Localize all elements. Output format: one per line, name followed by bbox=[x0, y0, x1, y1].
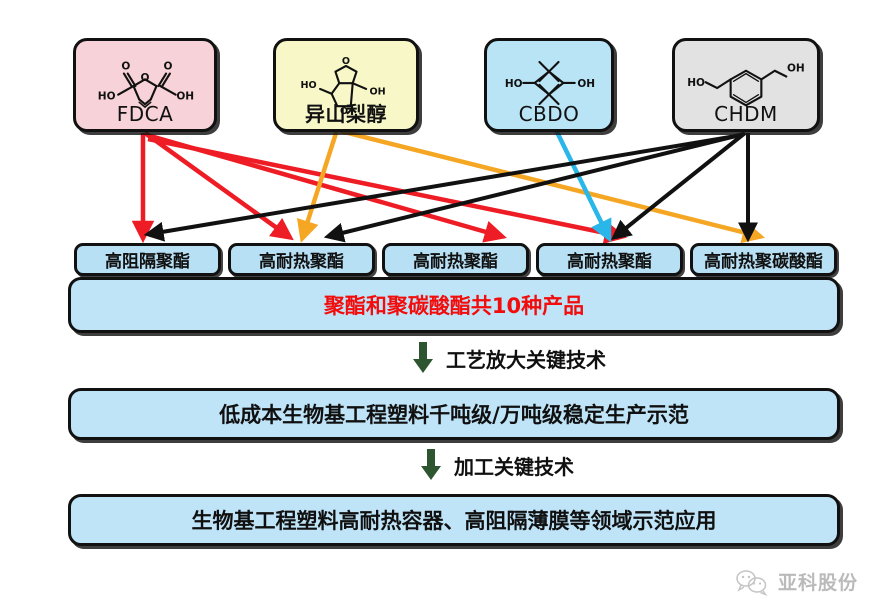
source-box-chdm[interactable]: HO OH CHDM bbox=[672, 38, 820, 132]
svg-text:O: O bbox=[141, 72, 150, 84]
product-chip-label: 高耐热聚碳酸酯 bbox=[704, 247, 823, 272]
svg-text:OH: OH bbox=[577, 78, 595, 90]
svg-text:HO: HO bbox=[301, 80, 317, 91]
product-chip-label: 高阻隔聚酯 bbox=[105, 247, 190, 272]
svg-text:O: O bbox=[342, 56, 350, 67]
product-chip-label: 高耐热聚酯 bbox=[259, 247, 344, 272]
product-chip-4[interactable]: 高耐热聚碳酸酯 bbox=[690, 243, 837, 276]
down-arrow-icon bbox=[420, 449, 442, 481]
source-label-chdm: CHDM bbox=[675, 104, 817, 129]
summary-banner-text: 聚酯和聚碳酸酯共10种产品 bbox=[324, 290, 584, 320]
wechat-icon bbox=[735, 569, 769, 595]
product-chip-1[interactable]: 高耐热聚酯 bbox=[228, 243, 375, 276]
process-banner-text: 生物基工程塑料高耐热容器、高阻隔薄膜等领域示范应用 bbox=[192, 505, 717, 535]
svg-text:OH: OH bbox=[176, 90, 194, 102]
diagram-canvas: O O O HO OH FDCA O O HO OH 异山梨醇 bbox=[0, 0, 895, 612]
product-chip-2[interactable]: 高耐热聚酯 bbox=[382, 243, 529, 276]
down-arrow-icon bbox=[412, 342, 434, 374]
source-box-isosorbide[interactable]: O O HO OH 异山梨醇 bbox=[273, 38, 419, 132]
svg-text:OH: OH bbox=[787, 63, 805, 75]
svg-text:O: O bbox=[164, 61, 173, 73]
product-chip-3[interactable]: 高耐热聚酯 bbox=[536, 243, 683, 276]
svg-text:HO: HO bbox=[98, 90, 116, 102]
product-chip-label: 高耐热聚酯 bbox=[413, 247, 498, 272]
step-row-0: 工艺放大关键技术 bbox=[412, 342, 606, 374]
process-banner-0[interactable]: 低成本生物基工程塑料千吨级/万吨级稳定生产示范 bbox=[68, 388, 840, 440]
step-row-1: 加工关键技术 bbox=[420, 449, 574, 481]
product-chip-0[interactable]: 高阻隔聚酯 bbox=[74, 243, 221, 276]
svg-text:HO: HO bbox=[687, 77, 705, 89]
watermark-text: 亚科股份 bbox=[778, 568, 858, 595]
svg-text:O: O bbox=[121, 61, 130, 73]
watermark: 亚科股份 bbox=[735, 568, 858, 595]
process-banner-text: 低成本生物基工程塑料千吨级/万吨级稳定生产示范 bbox=[219, 399, 689, 429]
svg-text:HO: HO bbox=[505, 78, 523, 90]
process-banner-1[interactable]: 生物基工程塑料高耐热容器、高阻隔薄膜等领域示范应用 bbox=[68, 494, 840, 546]
source-label-isosorbide: 异山梨醇 bbox=[276, 104, 416, 129]
summary-banner[interactable]: 聚酯和聚碳酸酯共10种产品 bbox=[68, 277, 840, 333]
step-caption-1: 加工关键技术 bbox=[454, 451, 574, 480]
product-chip-label: 高耐热聚酯 bbox=[567, 247, 652, 272]
source-box-fdca[interactable]: O O O HO OH FDCA bbox=[73, 38, 217, 132]
source-box-cbdo[interactable]: HO OH CBDO bbox=[484, 38, 614, 132]
svg-text:OH: OH bbox=[370, 87, 386, 98]
source-label-cbdo: CBDO bbox=[487, 104, 611, 129]
arrows-from-cbdo bbox=[556, 130, 608, 236]
source-label-fdca: FDCA bbox=[76, 104, 214, 129]
step-caption-0: 工艺放大关键技术 bbox=[446, 344, 606, 373]
